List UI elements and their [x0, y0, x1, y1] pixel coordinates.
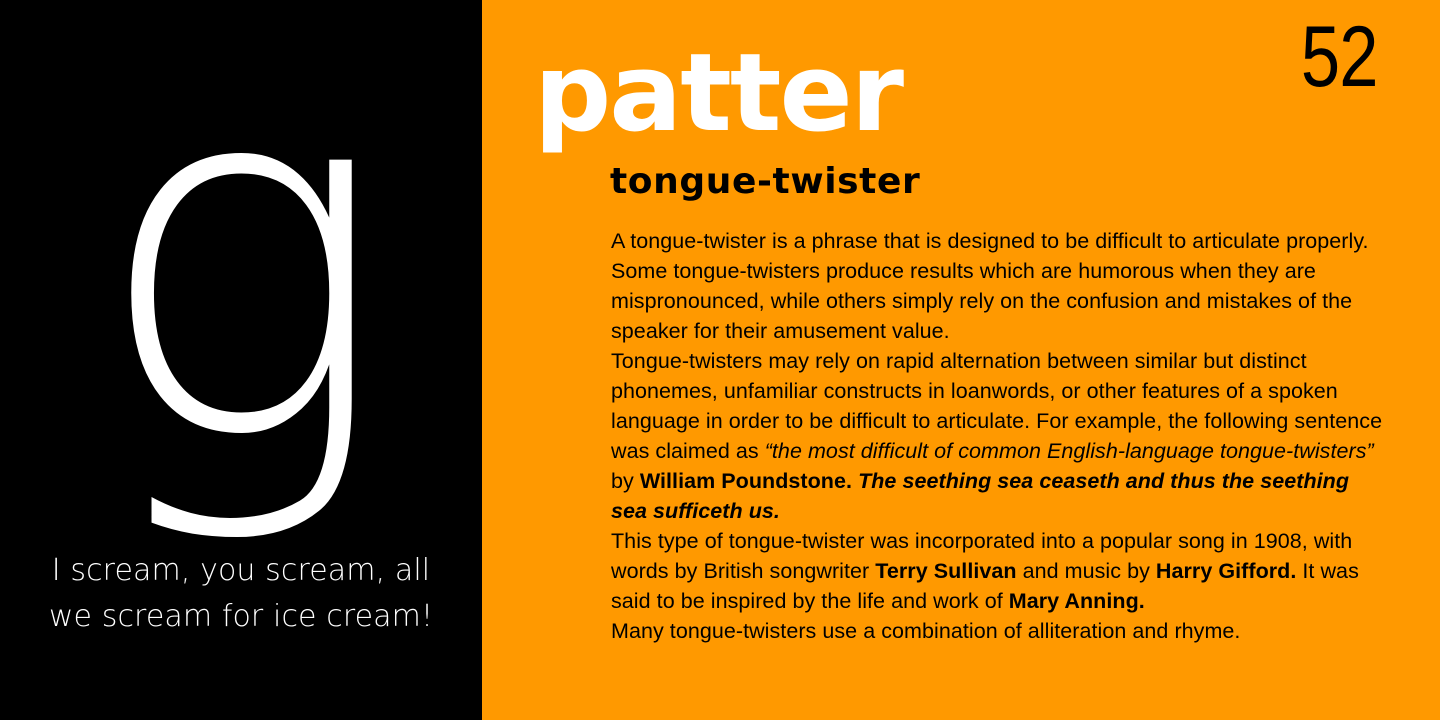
paragraph-song: This type of tongue-twister was incorpor… — [611, 526, 1383, 616]
composer-name-gifford: Harry Gifford. — [1156, 559, 1296, 583]
specimen-glyph: g — [0, 0, 482, 520]
paragraph-definition-text: A tongue-twister is a phrase that is des… — [611, 229, 1369, 343]
quoted-claim: “the most difficult of common English-la… — [765, 439, 1374, 463]
specimen-caption: I scream, you scream, all we scream for … — [0, 548, 482, 640]
inspiration-name-anning: Mary Anning. — [1009, 589, 1145, 613]
specimen-caption-line-1: I scream, you scream, all — [0, 548, 482, 594]
font-family-title: patter — [534, 36, 902, 152]
specimen-panel: g I scream, you scream, all we scream fo… — [0, 0, 482, 720]
page-number: 52 — [1301, 14, 1378, 100]
paragraph-phonemes-text-b: by — [611, 469, 640, 493]
specimen-caption-line-2: we scream for ice cream! — [0, 594, 482, 640]
paragraph-song-text-b: and music by — [1017, 559, 1156, 583]
paragraph-phonemes: Tongue-twisters may rely on rapid altern… — [611, 346, 1383, 526]
font-style-title: tongue-twister — [610, 161, 920, 203]
description-panel: 52 patter tongue-twister A tongue-twiste… — [482, 0, 1440, 720]
type-specimen-page: g I scream, you scream, all we scream fo… — [0, 0, 1440, 720]
paragraph-alliteration: Many tongue-twisters use a combination o… — [611, 616, 1383, 646]
songwriter-name-sullivan: Terry Sullivan — [875, 559, 1016, 583]
body-copy: A tongue-twister is a phrase that is des… — [611, 226, 1383, 646]
paragraph-alliteration-text: Many tongue-twisters use a combination o… — [611, 619, 1240, 643]
author-name-poundstone: William Poundstone. — [640, 469, 852, 493]
paragraph-definition: A tongue-twister is a phrase that is des… — [611, 226, 1383, 346]
